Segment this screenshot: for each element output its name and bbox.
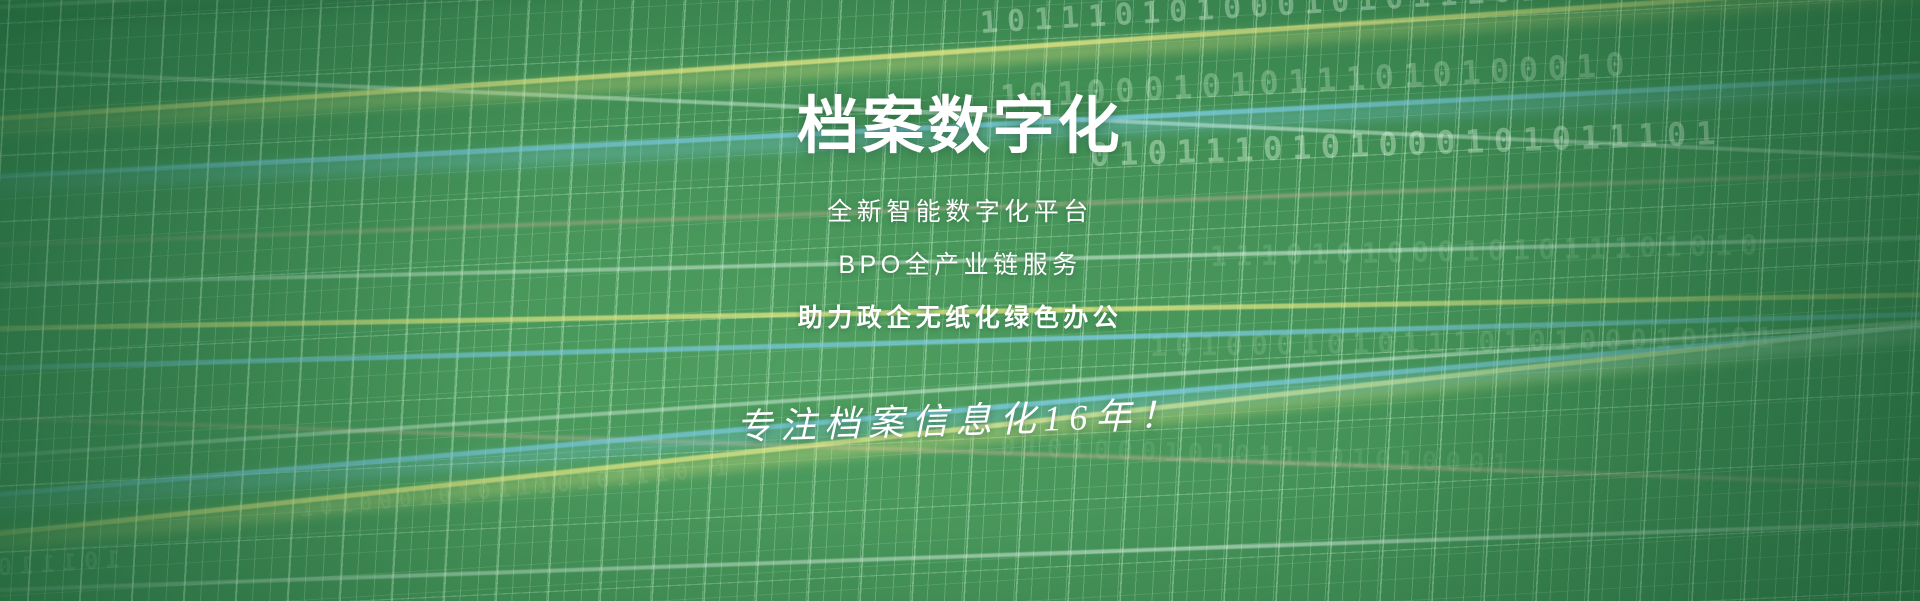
background-vignette (0, 0, 1920, 601)
hero-banner: 110110101011101011101 110101110101000101… (0, 0, 1920, 601)
